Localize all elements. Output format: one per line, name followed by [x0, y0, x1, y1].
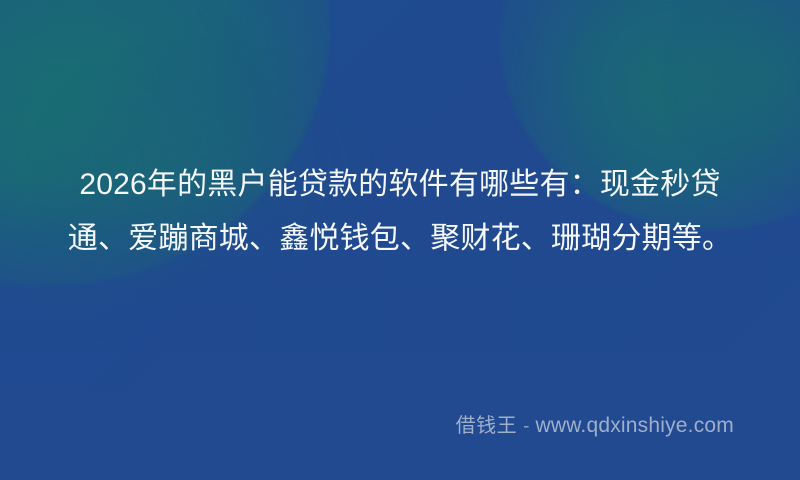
headline-line-1: 2026年的黑户能贷款的软件有哪些有：现金秒贷: [79, 168, 720, 201]
headline-line-3: 。: [702, 222, 732, 255]
watermark-url: www.qdxinshiye.com: [535, 415, 734, 436]
article-cover-card: 2026年的黑户能贷款的软件有哪些有：现金秒贷通、爱蹦商城、鑫悦钱包、聚财花、珊…: [0, 0, 800, 480]
headline-line-2: 通、爱蹦商城、鑫悦钱包、聚财花、珊瑚分期等: [68, 222, 702, 255]
headline-text: 2026年的黑户能贷款的软件有哪些有：现金秒贷通、爱蹦商城、鑫悦钱包、聚财花、珊…: [56, 158, 744, 266]
watermark-brand: 借钱王: [456, 416, 518, 436]
watermark: 借钱王 - www.qdxinshiye.com: [456, 415, 734, 436]
watermark-separator: -: [523, 417, 529, 436]
